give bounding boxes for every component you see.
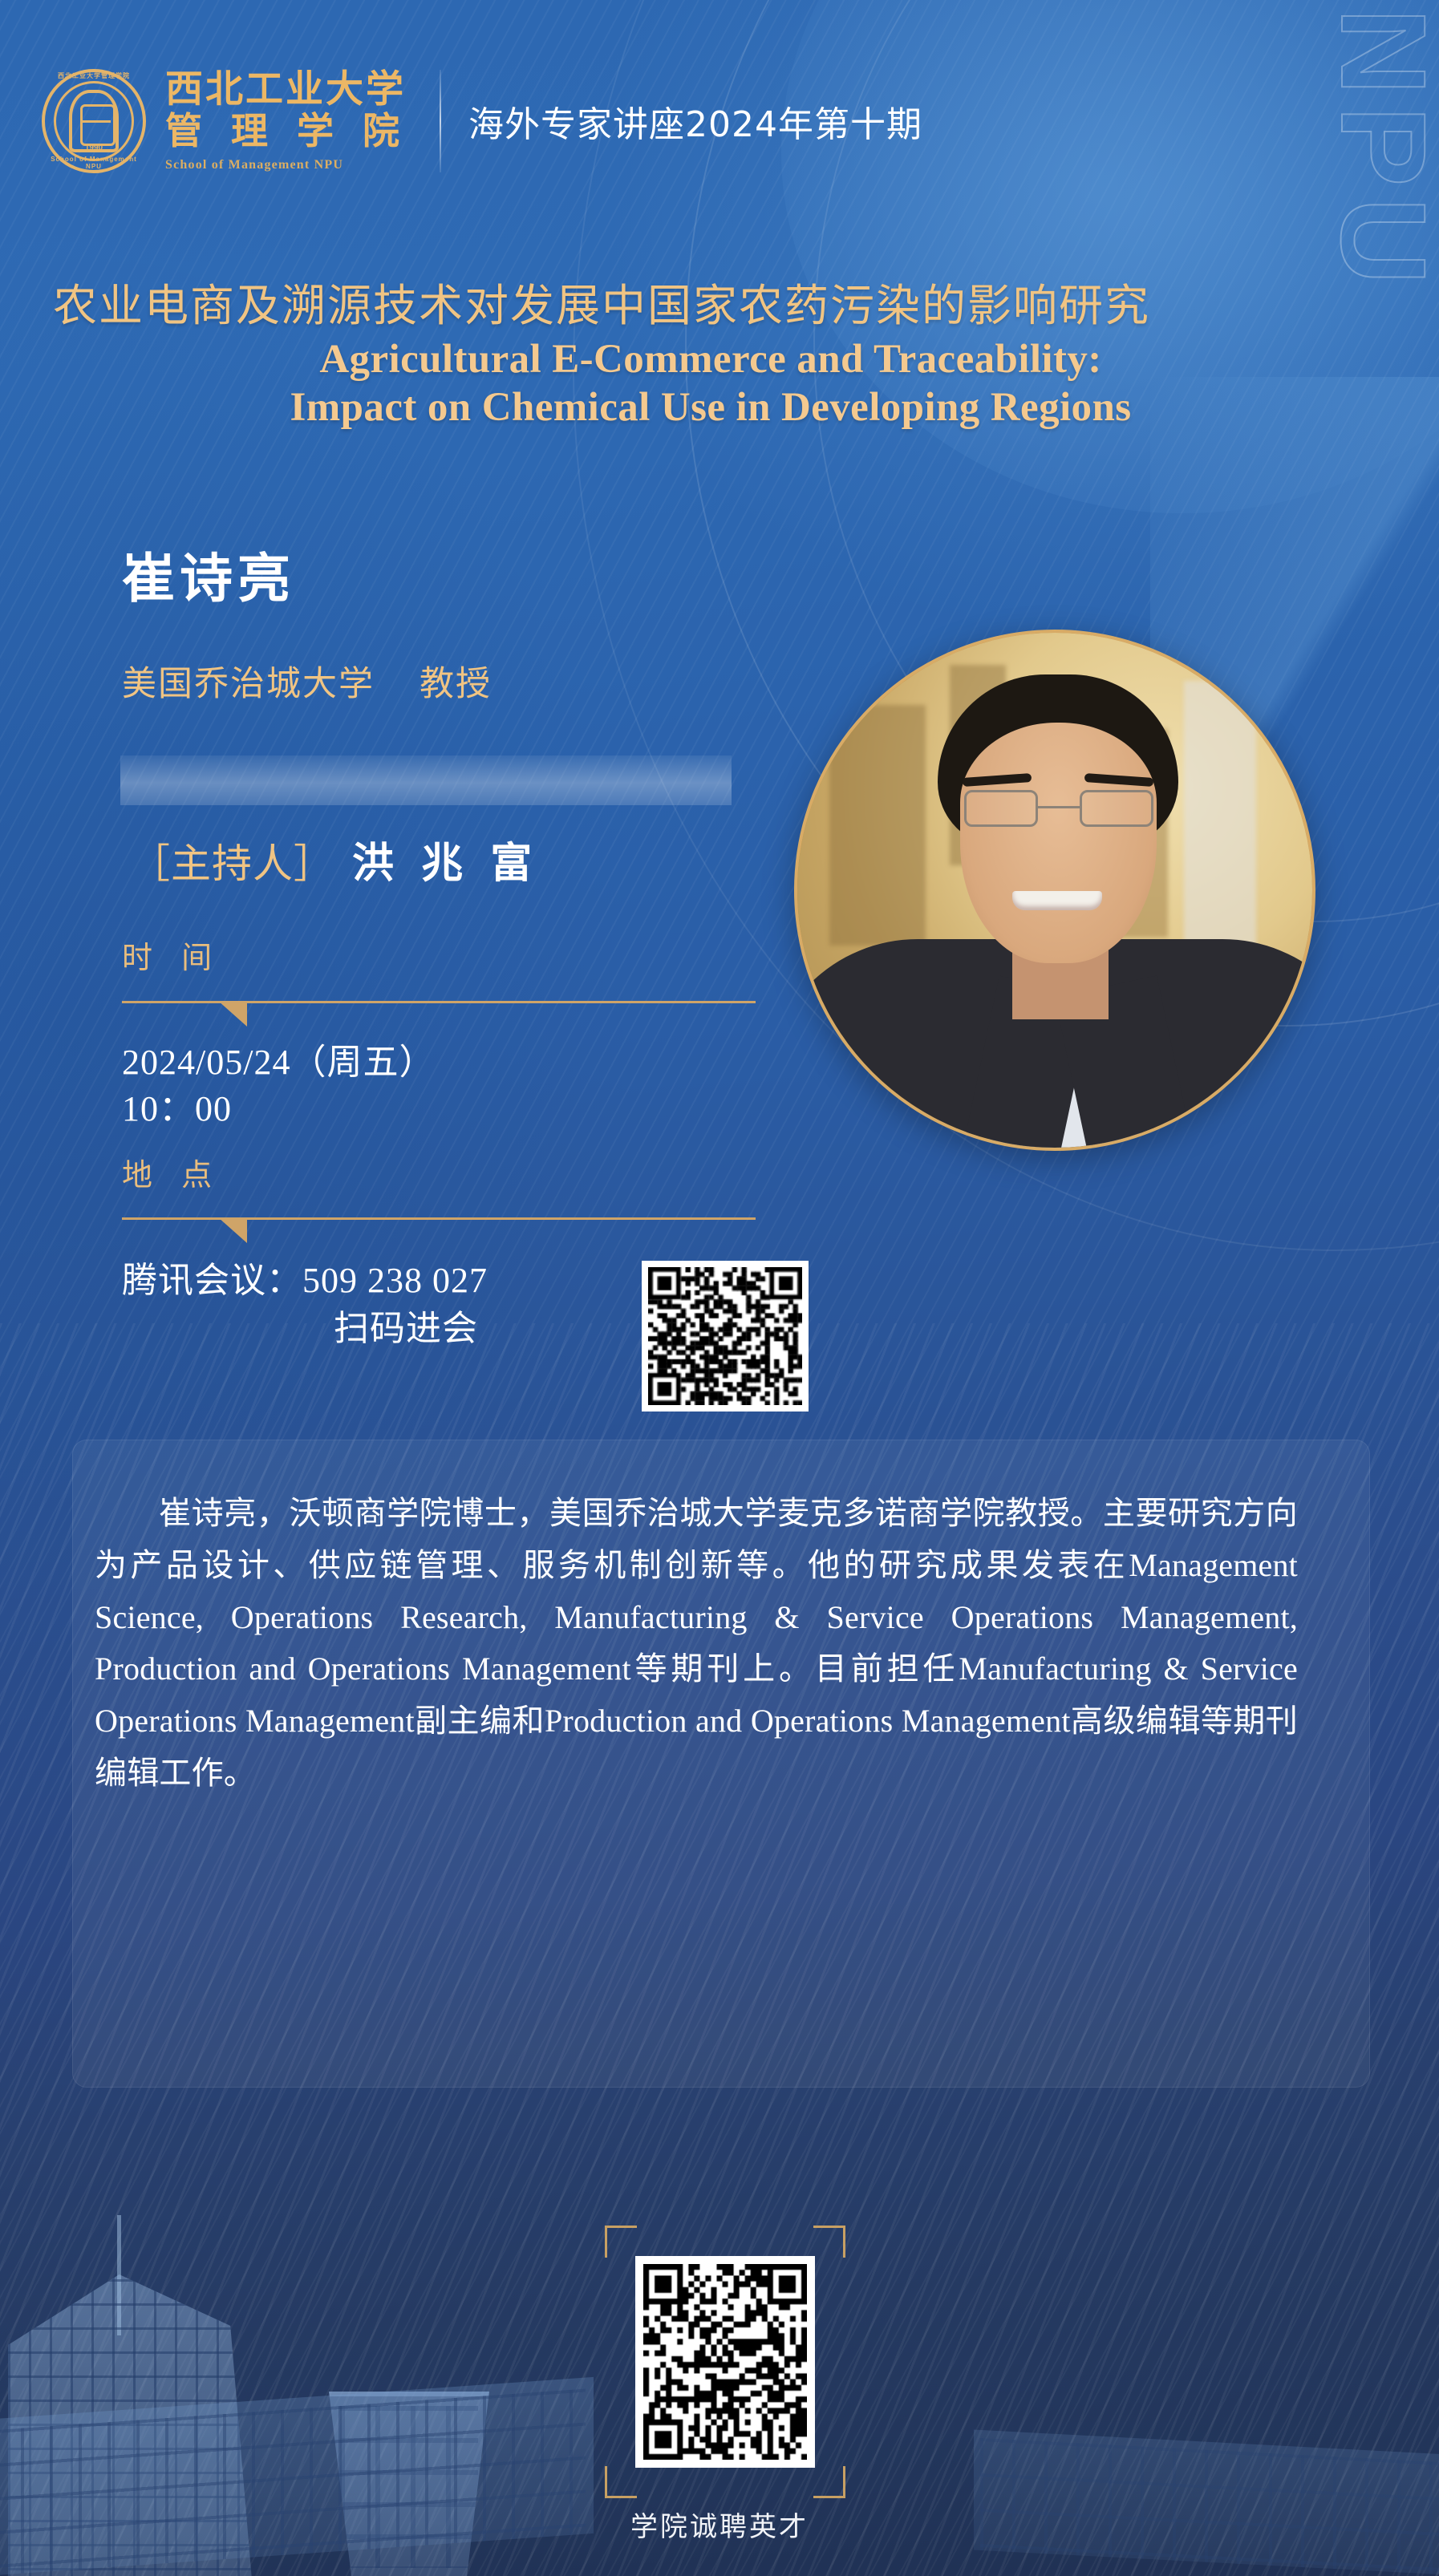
place-value: 腾讯会议：509 238 027 扫码进会 (122, 1257, 488, 1353)
host-name: 洪 兆 富 (352, 829, 538, 889)
portrait-face (960, 723, 1157, 963)
scan-corner-top-right (813, 2226, 845, 2258)
speaker-affiliation-row: 美国乔治城大学教授 (122, 656, 492, 706)
place-rule-notch (218, 1217, 247, 1243)
time-rule (122, 1001, 756, 1028)
low-building-silhouette (0, 2377, 594, 2576)
right-building-silhouette (974, 2430, 1439, 2576)
recruit-label: 学院诚聘英才 (0, 2505, 1439, 2544)
speaker-affiliation: 美国乔治城大学 (122, 664, 375, 704)
speaker-divider-bar (120, 755, 732, 805)
crest-top-text: 西北工业大学管理学院 (42, 71, 146, 80)
npu-school-crest-icon: 西北工业大学管理学院 1990 School of Management NPU (42, 69, 146, 173)
wordmark-university-cn: 西北工业大学 (165, 70, 407, 109)
recruit-qr-code-icon[interactable] (635, 2256, 815, 2468)
time-value: 2024/05/24（周五） 10：00 (122, 1039, 435, 1132)
scan-corner-bottom-left (605, 2466, 637, 2498)
lecture-title-en: Agricultural E-Commerce and Traceability… (53, 335, 1368, 431)
header-divider (440, 70, 441, 172)
place-rule-line (122, 1217, 756, 1220)
time-date: 2024/05/24（周五） (122, 1039, 435, 1086)
wordmark-school-cn: 管 理 学 院 (165, 111, 407, 152)
meeting-id: 腾讯会议：509 238 027 (122, 1257, 488, 1305)
lecture-title-cn: 农业电商及溯源技术对发展中国家农药污染的影响研究 (53, 269, 1368, 334)
host-row: ［主持人］ 洪 兆 富 (130, 829, 538, 889)
low-building-windows (0, 2389, 586, 2576)
lecture-title-en-line1: Agricultural E-Commerce and Traceability… (53, 335, 1368, 383)
speaker-rank: 教授 (420, 664, 492, 704)
npu-watermark: NPU (1323, 8, 1439, 296)
portrait-mouth (1012, 891, 1102, 910)
npu-wordmark: 西北工业大学 管 理 学 院 School of Management NPU (165, 70, 407, 172)
bronze-vessel-silhouette (329, 2392, 489, 2576)
scan-corner-top-left (605, 2226, 637, 2258)
recruit-qr-canvas (643, 2264, 807, 2460)
speaker-portrait (794, 630, 1315, 1151)
vessel-rim (311, 2377, 507, 2396)
poster-header: 西北工业大学管理学院 1990 School of Management NPU… (42, 69, 922, 173)
speaker-name: 崔诗亮 (122, 536, 295, 613)
scan-to-join: 扫码进会 (122, 1305, 488, 1353)
glasses-lens-left (964, 790, 1038, 827)
lecture-title-en-line2: Impact on Chemical Use in Developing Reg… (53, 383, 1368, 431)
speaker-bio-text: 崔诗亮，沃顿商学院博士，美国乔治城大学麦克多诺商学院教授。主要研究方向为产品设计… (95, 1488, 1298, 1800)
scan-corner-bottom-right (813, 2466, 845, 2498)
portrait-bg-shape-1 (829, 705, 926, 946)
time-heading: 时 间 (122, 933, 221, 977)
crest-year: 1990 (42, 144, 146, 152)
place-heading: 地 点 (122, 1150, 221, 1194)
time-rule-notch (218, 1001, 247, 1027)
glasses-lens-right (1080, 790, 1153, 827)
tower-spire (117, 2215, 121, 2335)
speaker-bio-paragraph: 崔诗亮，沃顿商学院博士，美国乔治城大学麦克多诺商学院教授。主要研究方向为产品设计… (95, 1488, 1298, 1800)
campus-silhouette-right (878, 2432, 1439, 2576)
meeting-qr-code-icon[interactable] (642, 1261, 809, 1412)
time-rule-line (122, 1001, 756, 1003)
crest-bottom-text: School of Management NPU (42, 156, 146, 170)
portrait-glasses-icon (958, 790, 1160, 827)
lecture-series-label: 海外专家讲座2024年第十期 (468, 95, 922, 147)
lecture-poster: NPU 西北工业大学管理学院 1990 School of Management… (0, 0, 1439, 2576)
portrait-bg-shape-3 (1184, 681, 1256, 946)
time-clock: 10：00 (122, 1086, 435, 1132)
place-rule (122, 1217, 756, 1245)
host-label: ［主持人］ (130, 832, 334, 889)
wordmark-school-en: School of Management NPU (165, 158, 407, 172)
scan-frame-icon (605, 2226, 845, 2498)
glasses-bridge (1038, 806, 1080, 808)
meeting-qr-canvas (648, 1267, 802, 1405)
